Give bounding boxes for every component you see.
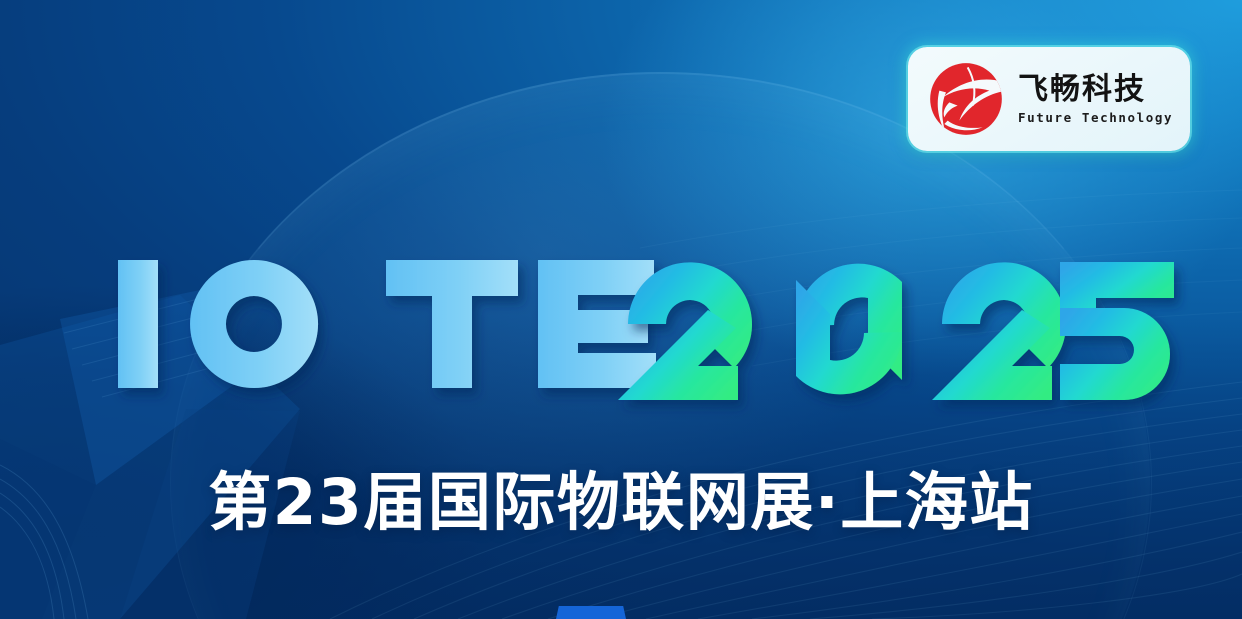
logo-name-cn: 飞畅科技 bbox=[1018, 73, 1173, 107]
headline-iote bbox=[118, 260, 656, 388]
headline-svg bbox=[112, 248, 1102, 400]
subtitle: 第23届国际物联网展·上海站 bbox=[0, 452, 1242, 543]
logo-text-block: 飞畅科技 Future Technology bbox=[1018, 73, 1173, 125]
logo-name-en: Future Technology bbox=[1018, 110, 1173, 125]
bottom-accent-tab bbox=[556, 606, 626, 619]
headline-year bbox=[618, 262, 1174, 400]
headline bbox=[112, 248, 1102, 400]
feichang-logo-icon bbox=[924, 59, 1008, 139]
sponsor-logo-badge[interactable]: 飞畅科技 Future Technology bbox=[908, 47, 1190, 151]
iote-2025-banner: 第23届国际物联网展·上海站 飞畅科技 Future bbox=[0, 0, 1242, 619]
